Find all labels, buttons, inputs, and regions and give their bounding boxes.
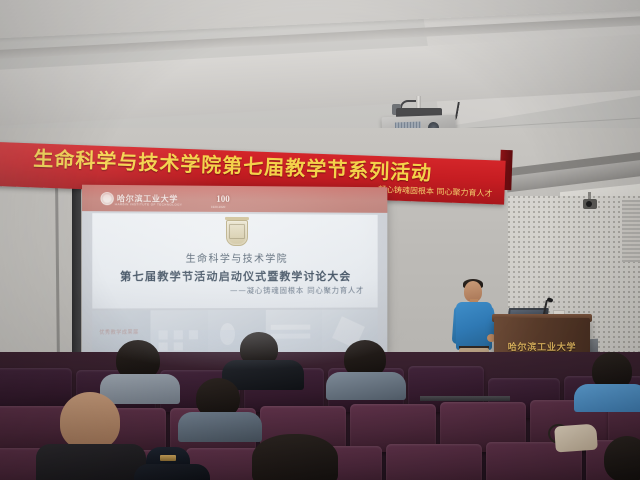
university-crest-icon: [226, 220, 248, 246]
wall-camera-lens: [586, 201, 592, 207]
slide-body: 生命科学与技术学院 第七届教学节活动启动仪式暨教学讨论大会 ——凝心铸魂固根本 …: [92, 213, 377, 308]
slide-photo-caption: 优秀教学成果展: [99, 328, 138, 335]
audience-shoulders: [326, 372, 406, 400]
audience-shoulders: [100, 374, 180, 404]
wall-dark-recess: [72, 178, 81, 373]
photo-detail: [220, 323, 235, 345]
slide-line-title: 第七届教学节活动启动仪式暨教学讨论大会: [92, 268, 377, 284]
seat[interactable]: [386, 444, 482, 480]
photo-detail: [271, 334, 311, 339]
university-logo-mark: [100, 192, 113, 205]
audience-shoulders: [574, 384, 640, 412]
cap-badge-icon: [160, 455, 176, 461]
audience-shoulders: [178, 412, 262, 442]
centenary-emblem-years: 1920-2020: [211, 205, 225, 209]
photo-detail: [189, 330, 198, 340]
photo-detail: [271, 325, 311, 330]
lecture-hall-photo: 生命科学与技术学院第七届教学节系列活动 ——凝心铸魂固根本 同心聚力育人才 哈尔…: [0, 0, 640, 480]
projection-screen: 哈尔滨工业大学 HARBIN INSTITUTE OF TECHNOLOGY 1…: [82, 185, 387, 356]
photo-detail: [159, 330, 168, 340]
beige-handbag: [554, 424, 598, 453]
audience-head-long-hair: [252, 434, 338, 480]
audience-shoulders: [36, 444, 146, 480]
presentation-slide: 哈尔滨工业大学 HARBIN INSTITUTE OF TECHNOLOGY 1…: [82, 185, 387, 356]
audience-head-bald: [60, 392, 120, 450]
slide-photo: [151, 310, 209, 355]
slide-line-school: 生命科学与技术学院: [92, 250, 377, 265]
desk-edge: [420, 396, 510, 401]
speaker-blue-shirt: [456, 302, 492, 350]
slide-line-slogan: ——凝心铸魂固根本 同心聚力育人才: [230, 285, 364, 296]
audience-head: [604, 436, 640, 480]
photo-detail: [159, 342, 168, 351]
wall-vent: [622, 200, 640, 262]
photo-detail: [174, 342, 183, 351]
university-logo-subtext: HARBIN INSTITUTE OF TECHNOLOGY: [115, 202, 182, 206]
photo-detail: [174, 330, 183, 340]
audience-shoulders: [134, 464, 210, 480]
